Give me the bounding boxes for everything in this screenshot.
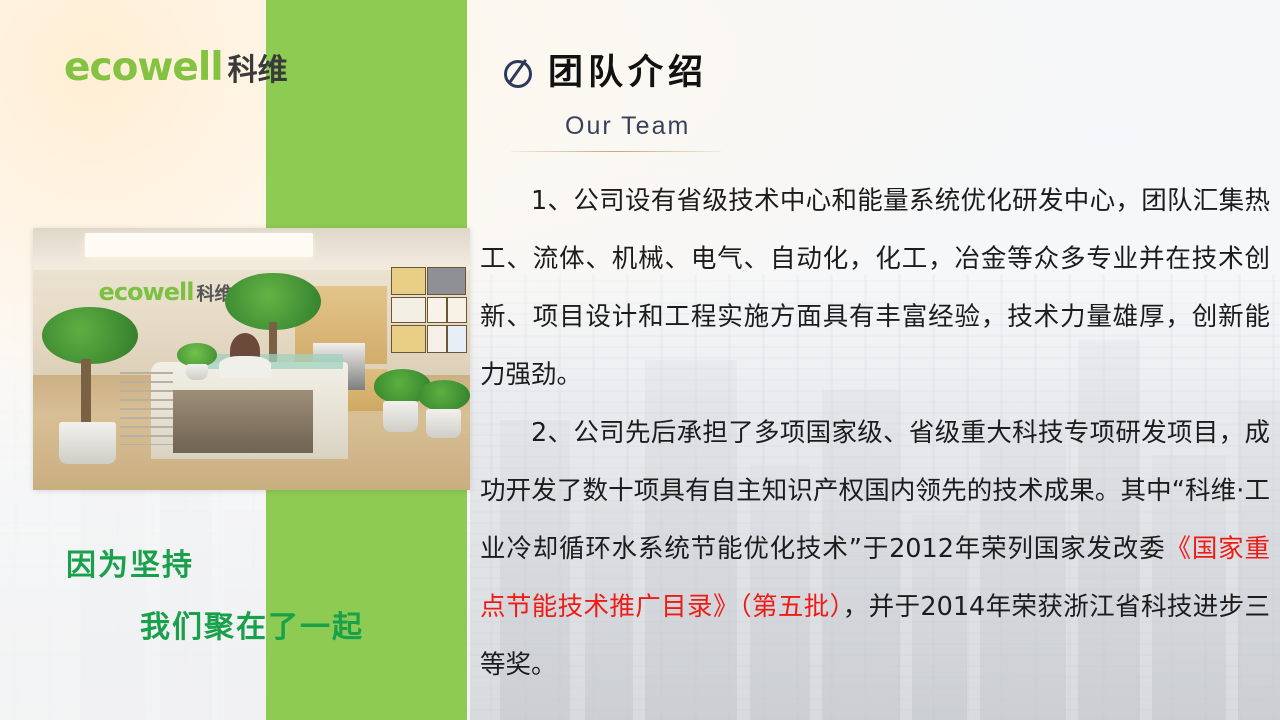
left-panel: ecowell 科维 ecowell 科维 bbox=[0, 0, 470, 720]
photo-plant-right-a-pot bbox=[383, 401, 418, 432]
photo-certificate-wall bbox=[391, 267, 465, 367]
paragraph-2: 2、公司先后承担了多项国家级、省级重大科技专项研发项目，成功开发了数十项具有自主… bbox=[480, 404, 1270, 694]
right-content-panel: 团队介绍 Our Team 1、公司设有省级技术中心和能量系统优化研发中心，团队… bbox=[470, 0, 1280, 720]
slogan-line-1: 因为坚持 bbox=[66, 540, 194, 584]
logo-chinese-text: 科维 bbox=[228, 56, 288, 86]
photo-plant-left-foliage bbox=[42, 307, 138, 365]
paragraph-2-text-before: 2、公司先后承担了多项国家级、省级重大科技专项研发项目，成功开发了数十项具有自主… bbox=[480, 418, 1270, 564]
photo-desk-pot bbox=[186, 364, 208, 380]
slide-canvas: ecowell 科维 ecowell 科维 bbox=[0, 0, 1280, 720]
logo-latin-text: ecowell bbox=[64, 48, 223, 87]
photo-wall-logo-latin: ecowell bbox=[99, 278, 194, 306]
company-logo: ecowell 科维 bbox=[64, 48, 288, 87]
subtitle-underline bbox=[511, 151, 721, 152]
photo-plant-left-pot bbox=[59, 422, 116, 464]
page-subtitle: Our Team bbox=[565, 112, 690, 141]
photo-receptionist bbox=[230, 333, 261, 370]
circle-slash-icon bbox=[500, 55, 536, 91]
page-title: 团队介绍 bbox=[548, 56, 708, 91]
photo-plant-left-trunk bbox=[81, 359, 91, 427]
photo-side-shelf bbox=[120, 372, 172, 445]
section-header: 团队介绍 bbox=[500, 55, 708, 91]
photo-ceiling-light bbox=[85, 233, 312, 257]
slogan-line-2: 我们聚在了一起 bbox=[140, 602, 364, 646]
office-reception-photo: ecowell 科维 bbox=[33, 228, 470, 490]
photo-plant-right-b-pot bbox=[426, 409, 461, 438]
body-content: 1、公司设有省级技术中心和能量系统优化研发中心，团队汇集热工、流体、机械、电气、… bbox=[480, 172, 1270, 694]
photo-wall-logo: ecowell 科维 bbox=[99, 278, 233, 306]
paragraph-1: 1、公司设有省级技术中心和能量系统优化研发中心，团队汇集热工、流体、机械、电气、… bbox=[480, 172, 1270, 404]
photo-desk-front-panel bbox=[173, 390, 313, 453]
